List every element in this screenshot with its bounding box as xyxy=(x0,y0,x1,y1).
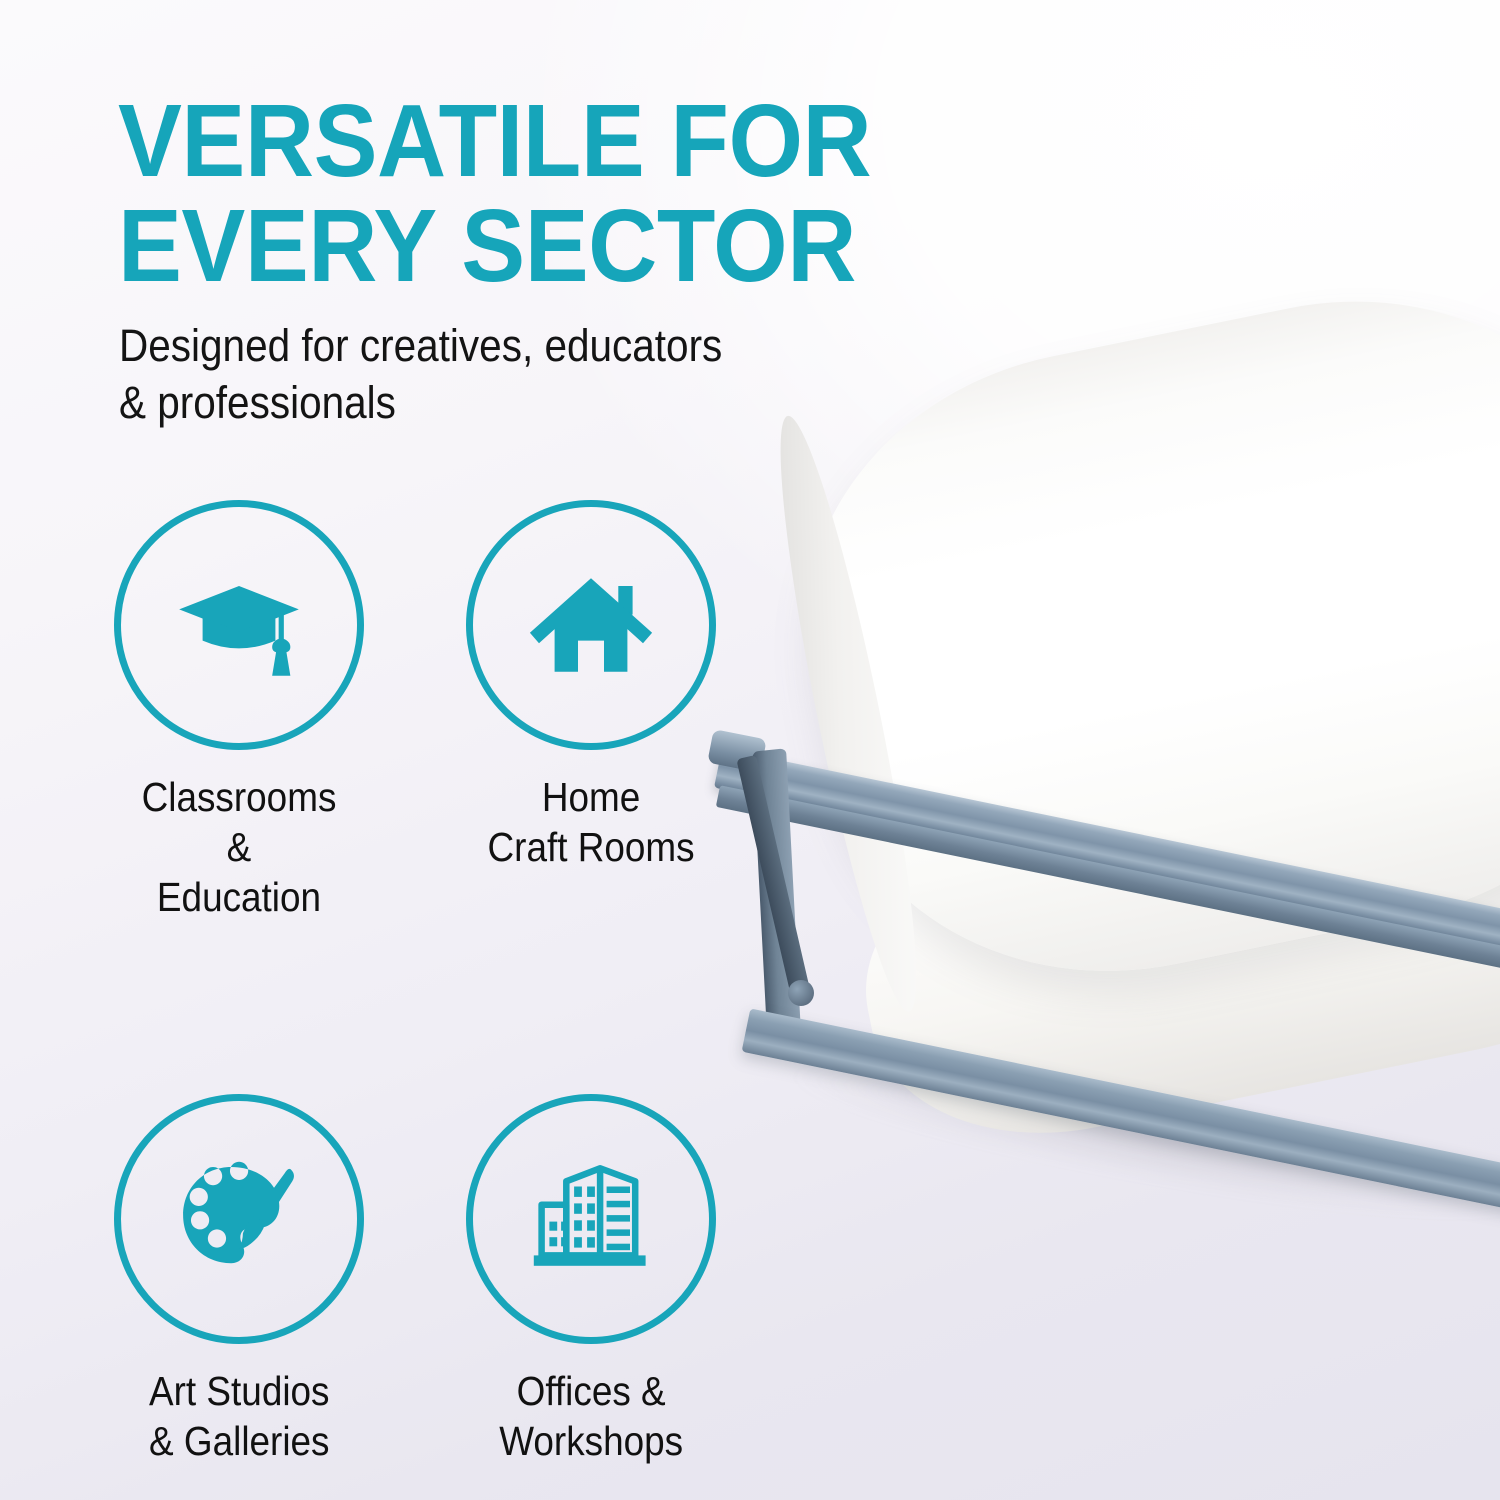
feature-row: Classrooms & Education Home Craft Rooms xyxy=(113,500,733,922)
house-icon xyxy=(526,560,656,690)
icon-circle xyxy=(466,1094,716,1344)
feature-item-art-studios-galleries[interactable]: Art Studios & Galleries xyxy=(113,1094,365,1466)
feature-row: Art Studios & Galleries xyxy=(113,1094,733,1466)
bracket-pivot-knob xyxy=(788,980,814,1006)
feature-item-home-craft-rooms[interactable]: Home Craft Rooms xyxy=(465,500,717,922)
feature-grid: Classrooms & Education Home Craft Rooms xyxy=(113,500,733,1466)
product-photo xyxy=(700,330,1500,1190)
infographic-canvas: VERSATILE FOR EVERY SECTOR Designed for … xyxy=(0,0,1500,1500)
feature-label: Classrooms & Education xyxy=(126,772,353,922)
icon-circle xyxy=(114,500,364,750)
page-title: VERSATILE FOR EVERY SECTOR xyxy=(118,88,881,298)
graduation-cap-icon xyxy=(174,560,304,690)
icon-circle xyxy=(466,500,716,750)
feature-item-offices-workshops[interactable]: Offices & Workshops xyxy=(465,1094,717,1466)
feature-label: Offices & Workshops xyxy=(499,1366,683,1466)
feature-label: Home Craft Rooms xyxy=(487,772,694,872)
feature-label: Art Studios & Galleries xyxy=(149,1366,329,1466)
office-buildings-icon xyxy=(526,1154,656,1284)
paint-palette-brush-icon xyxy=(174,1154,304,1284)
feature-item-classrooms-education[interactable]: Classrooms & Education xyxy=(113,500,365,922)
icon-circle xyxy=(114,1094,364,1344)
page-subtitle: Designed for creatives, educators & prof… xyxy=(119,318,767,431)
